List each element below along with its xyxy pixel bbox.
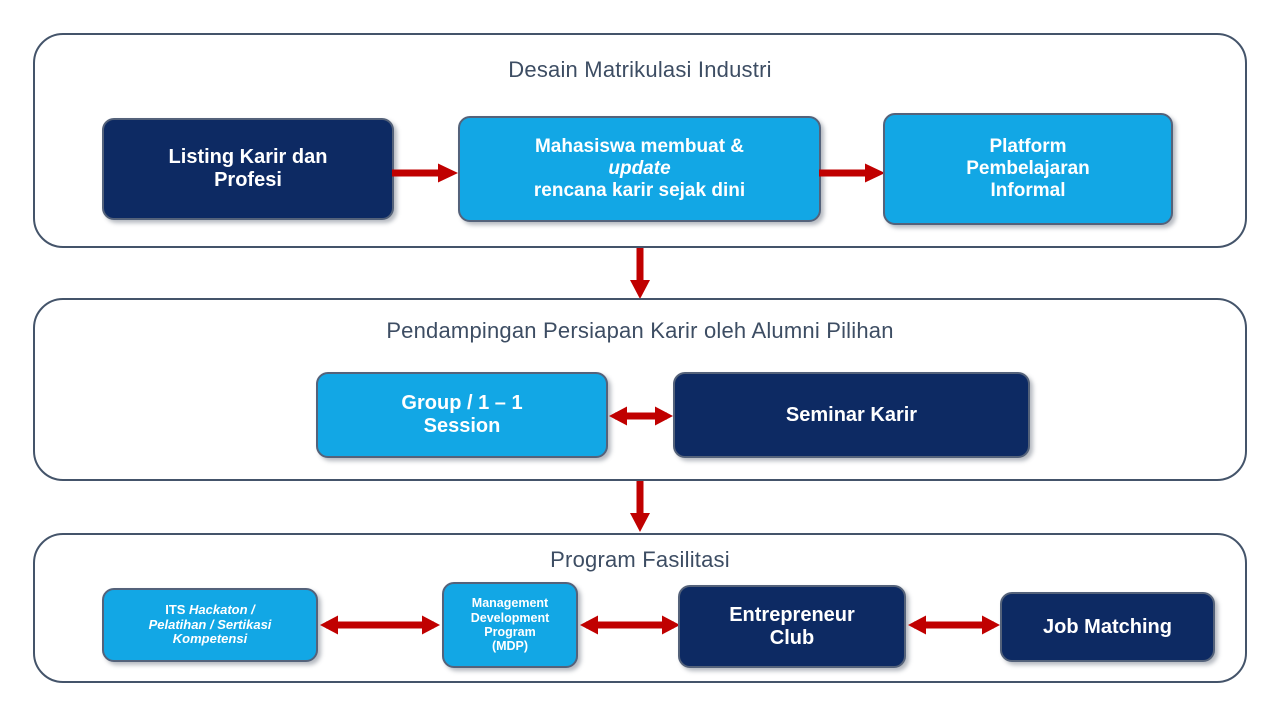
node-entrepreneur-club-text: Entrepreneur Club <box>686 604 898 650</box>
node-text-line-italic: Pelatihan / Sertikasi <box>149 617 272 632</box>
diagram-canvas: Desain Matrikulasi Industri Listing Kari… <box>0 0 1280 720</box>
node-entrepreneur-club[interactable]: Entrepreneur Club <box>678 585 906 668</box>
node-platform-pembelajaran-informal-text: Platform Pembelajaran Informal <box>891 136 1165 202</box>
node-text-line: Pembelajaran <box>966 158 1090 179</box>
arrow-section2-to-section3 <box>628 481 652 533</box>
node-listing-karir-dan-profesi-text: Listing Karir dan Profesi <box>110 146 386 192</box>
node-text-line: Platform <box>989 136 1066 157</box>
section-title-desain-matrikulasi-industri: Desain Matrikulasi Industri <box>35 57 1245 83</box>
node-text-line: Job Matching <box>1043 616 1172 638</box>
node-text-line: rencana karir sejak dini <box>534 180 745 201</box>
node-text-line: Profesi <box>214 169 282 191</box>
node-text-line: Group / 1 – 1 <box>401 392 522 414</box>
arrow-its-to-mdp <box>320 614 440 636</box>
node-mahasiswa-membuat-update[interactable]: Mahasiswa membuat & update rencana karir… <box>458 116 821 222</box>
node-seminar-karir[interactable]: Seminar Karir <box>673 372 1030 458</box>
arrow-mahasiswa-to-platform <box>819 162 887 184</box>
arrow-listing-to-mahasiswa <box>392 162 460 184</box>
node-its-hackaton-text: ITS Hackaton / Pelatihan / Sertikasi Kom… <box>110 603 310 648</box>
node-text-line: Program <box>484 625 535 639</box>
section-pendampingan-persiapan-karir: Pendampingan Persiapan Karir oleh Alumni… <box>33 298 1247 481</box>
node-mahasiswa-membuat-update-text: Mahasiswa membuat & update rencana karir… <box>466 136 813 202</box>
node-text-line-italic: update <box>608 158 670 179</box>
section-title-pendampingan-persiapan-karir: Pendampingan Persiapan Karir oleh Alumni… <box>35 318 1245 344</box>
node-text-line: (MDP) <box>492 639 528 653</box>
node-listing-karir-dan-profesi[interactable]: Listing Karir dan Profesi <box>102 118 394 220</box>
section-title-program-fasilitasi: Program Fasilitasi <box>35 547 1245 573</box>
node-text-line: Development <box>471 611 550 625</box>
node-text-line: Listing Karir dan <box>169 146 328 168</box>
node-text-line: Seminar Karir <box>786 404 917 426</box>
node-management-development-program-mdp[interactable]: Management Development Program (MDP) <box>442 582 578 668</box>
node-group-1-1-session[interactable]: Group / 1 – 1 Session <box>316 372 608 458</box>
node-text-line: Entrepreneur <box>729 604 855 626</box>
node-text-line: Mahasiswa membuat & <box>535 136 744 157</box>
node-text-line: ITS <box>165 602 189 617</box>
node-text-line: Club <box>770 627 814 649</box>
node-its-hackaton-pelatihan-sertikasi-kompetensi[interactable]: ITS Hackaton / Pelatihan / Sertikasi Kom… <box>102 588 318 662</box>
node-group-1-1-session-text: Group / 1 – 1 Session <box>324 392 600 438</box>
node-platform-pembelajaran-informal[interactable]: Platform Pembelajaran Informal <box>883 113 1173 225</box>
arrow-mdp-to-entrepreneur <box>580 614 680 636</box>
node-text-line: Session <box>424 415 501 437</box>
node-seminar-karir-text: Seminar Karir <box>681 404 1022 427</box>
node-text-line-italic: Hackaton / <box>189 602 255 617</box>
node-text-line: Informal <box>991 180 1066 201</box>
arrow-group-to-seminar <box>609 405 673 427</box>
node-text-line-italic: Kompetensi <box>173 631 247 646</box>
node-text-line: Management <box>472 596 548 610</box>
node-job-matching[interactable]: Job Matching <box>1000 592 1215 662</box>
node-mdp-text: Management Development Program (MDP) <box>450 596 570 654</box>
arrow-section1-to-section2 <box>628 248 652 300</box>
node-job-matching-text: Job Matching <box>1008 616 1207 639</box>
arrow-entrepreneur-to-jobmatching <box>908 614 1000 636</box>
